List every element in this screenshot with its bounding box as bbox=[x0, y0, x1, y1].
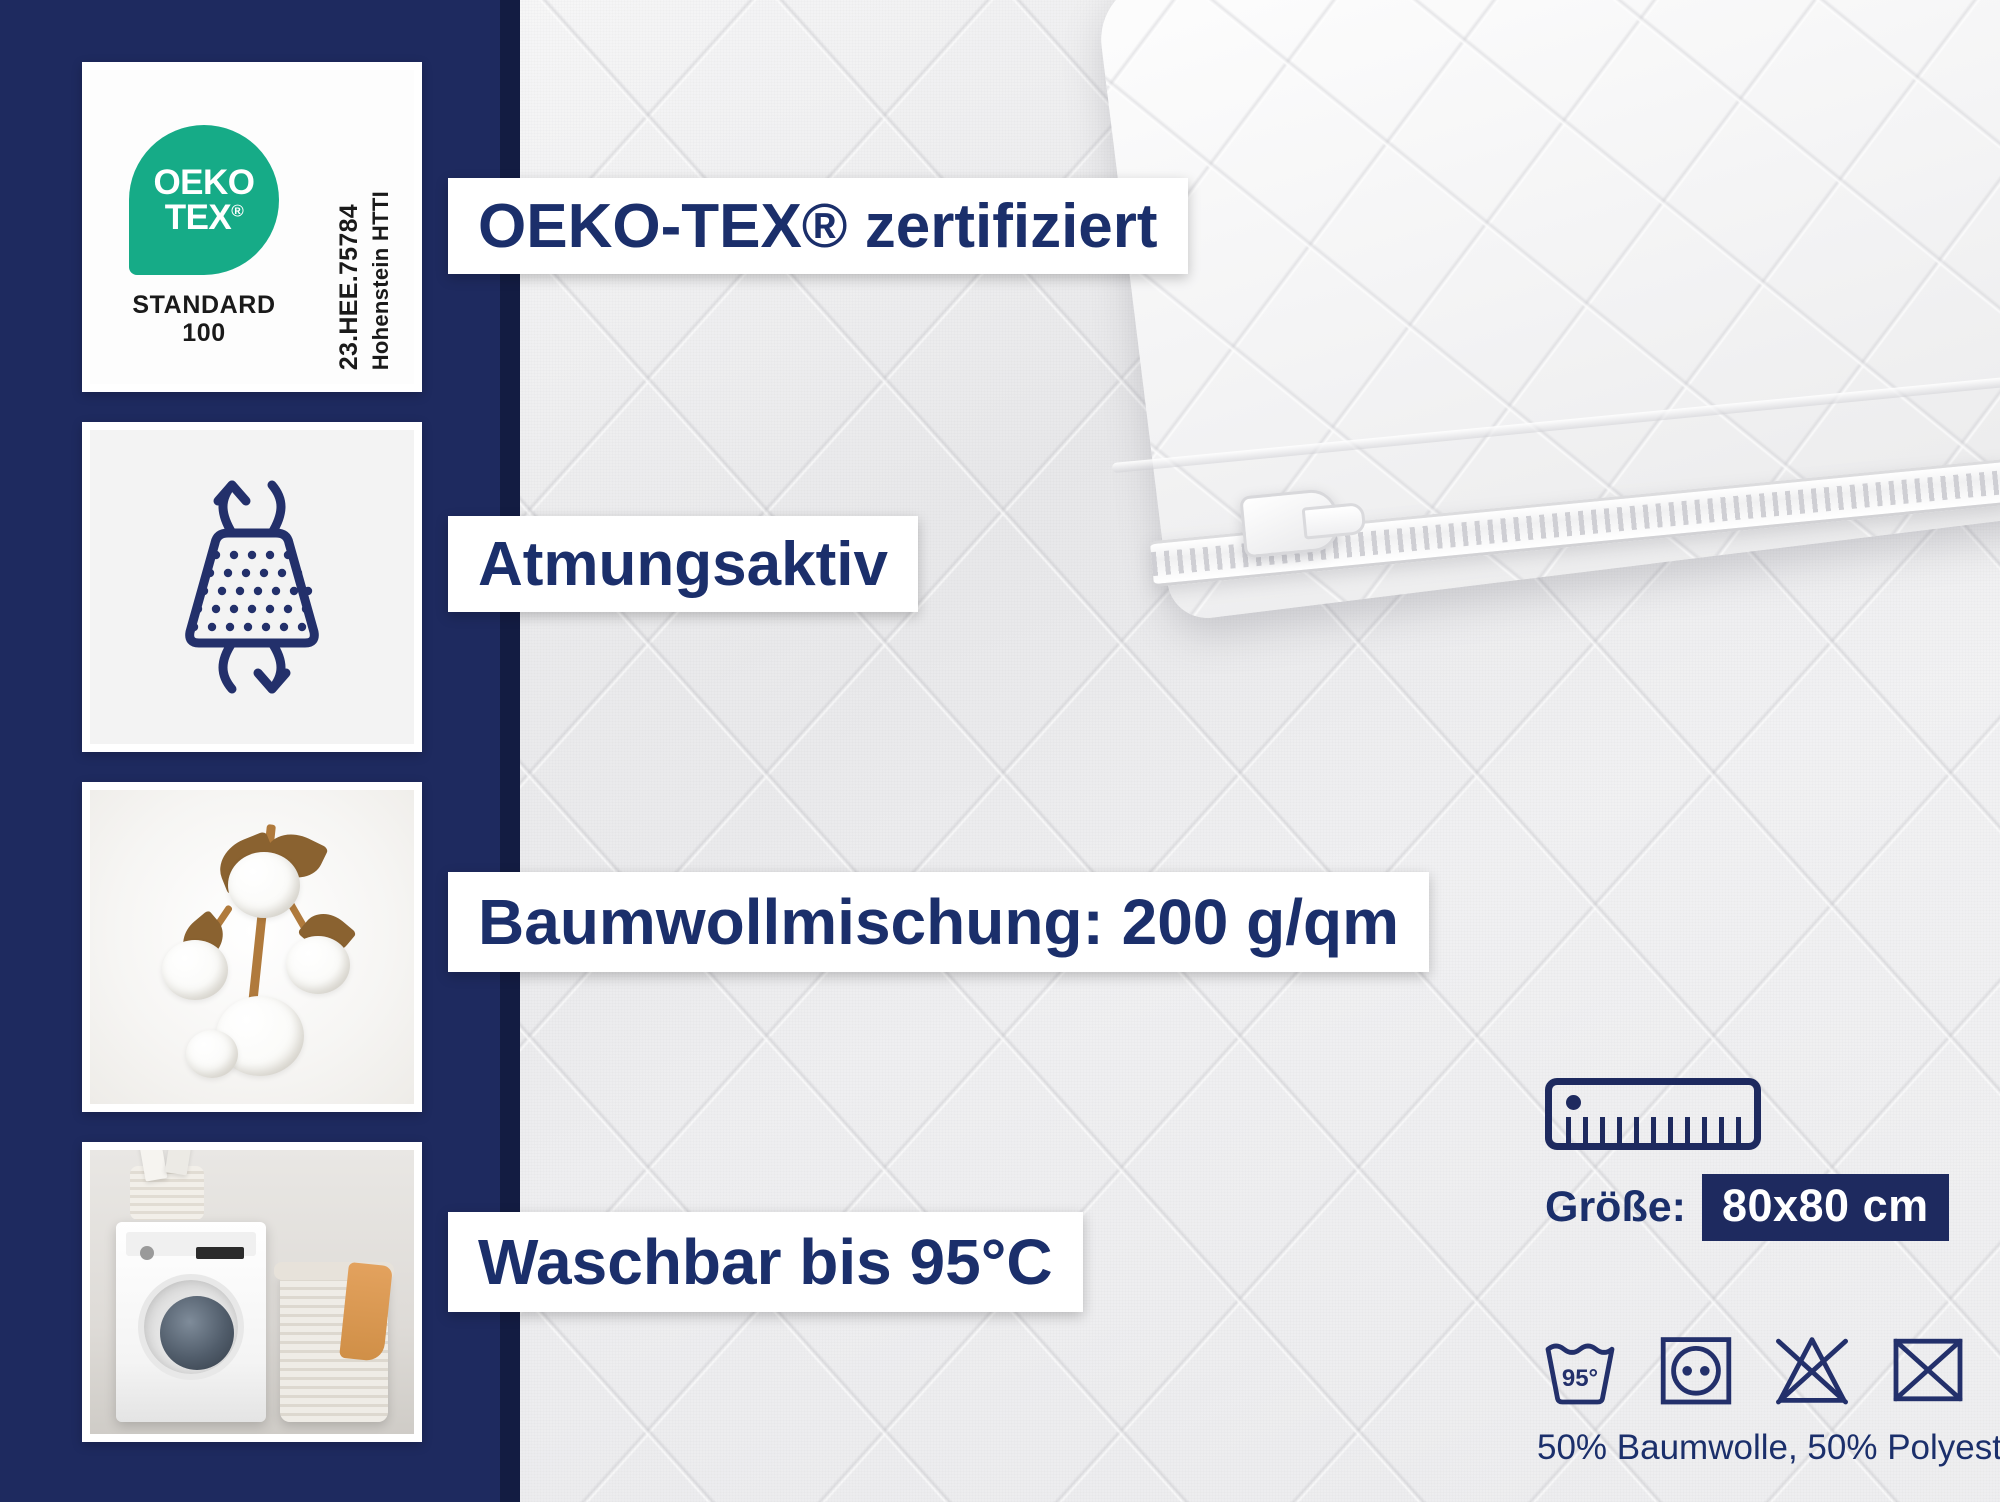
banner-washable: Waschbar bis 95°C bbox=[448, 1212, 1083, 1312]
ruler-hole-dot bbox=[1566, 1095, 1581, 1110]
fabric-composition-text: 50% Baumwolle, 50% Polyester bbox=[1537, 1428, 2000, 1468]
registered-mark: ® bbox=[231, 201, 243, 220]
tile-cotton-plant bbox=[82, 782, 422, 1112]
banner-cotton-blend-label: Baumwollmischung: 200 g/qm bbox=[478, 885, 1399, 959]
tile-oeko-tex-certificate: OEKO TEX® STANDARD 100 23.HEE.75784 Hohe… bbox=[82, 62, 422, 392]
tumble-dry-normal-icon bbox=[1656, 1330, 1736, 1410]
oeko-tex-logo-line2: TEX bbox=[165, 198, 232, 237]
tile-breathability bbox=[82, 422, 422, 752]
size-label: Größe: bbox=[1545, 1183, 1686, 1232]
product-infographic: OEKO TEX® STANDARD 100 23.HEE.75784 Hohe… bbox=[0, 0, 2000, 1502]
tile-washing-machine bbox=[82, 1142, 422, 1442]
banner-breathable: Atmungsaktiv bbox=[448, 516, 918, 612]
oeko-tex-standard-text: STANDARD 100 bbox=[132, 291, 275, 347]
care-symbols-row: 95° bbox=[1540, 1330, 1968, 1410]
banner-breathable-label: Atmungsaktiv bbox=[478, 529, 888, 600]
washing-machine-image bbox=[90, 1150, 414, 1434]
do-not-dry-clean-icon bbox=[1888, 1330, 1968, 1410]
oeko-tex-logo-line1: OEKO bbox=[153, 165, 254, 200]
ruler-icon bbox=[1545, 1078, 1761, 1150]
do-not-bleach-icon bbox=[1772, 1330, 1852, 1410]
oeko-tex-certificate-code: 23.HEE.75784 Hohenstein HTTI bbox=[318, 70, 414, 384]
oeko-tex-logo: OEKO TEX® STANDARD 100 bbox=[90, 70, 318, 384]
banner-cotton-blend: Baumwollmischung: 200 g/qm bbox=[448, 872, 1429, 972]
standard-line1: STANDARD bbox=[132, 291, 275, 319]
size-value-badge: 80x80 cm bbox=[1702, 1174, 1949, 1241]
banner-oeko-tex-label: OEKO-TEX® zertifiziert bbox=[478, 191, 1158, 262]
cotton-plant-image bbox=[90, 790, 414, 1104]
banner-oeko-tex: OEKO-TEX® zertifiziert bbox=[448, 178, 1188, 274]
banner-washable-label: Waschbar bis 95°C bbox=[478, 1225, 1053, 1299]
breathability-icon bbox=[112, 447, 392, 727]
standard-line2: 100 bbox=[132, 319, 275, 347]
size-block: Größe: 80x80 cm bbox=[1545, 1078, 1949, 1241]
wash-temperature-value: 95° bbox=[1562, 1365, 1598, 1392]
wash-95-icon: 95° bbox=[1540, 1330, 1620, 1410]
ruler-ticks bbox=[1566, 1117, 1744, 1143]
certificate-institute: Hohenstein HTTI bbox=[368, 191, 394, 370]
oeko-tex-droplet-icon: OEKO TEX® bbox=[129, 125, 279, 275]
zipper-pull-icon bbox=[1239, 488, 1341, 559]
washing-machine bbox=[116, 1222, 266, 1422]
certificate-number: 23.HEE.75784 bbox=[335, 204, 364, 370]
